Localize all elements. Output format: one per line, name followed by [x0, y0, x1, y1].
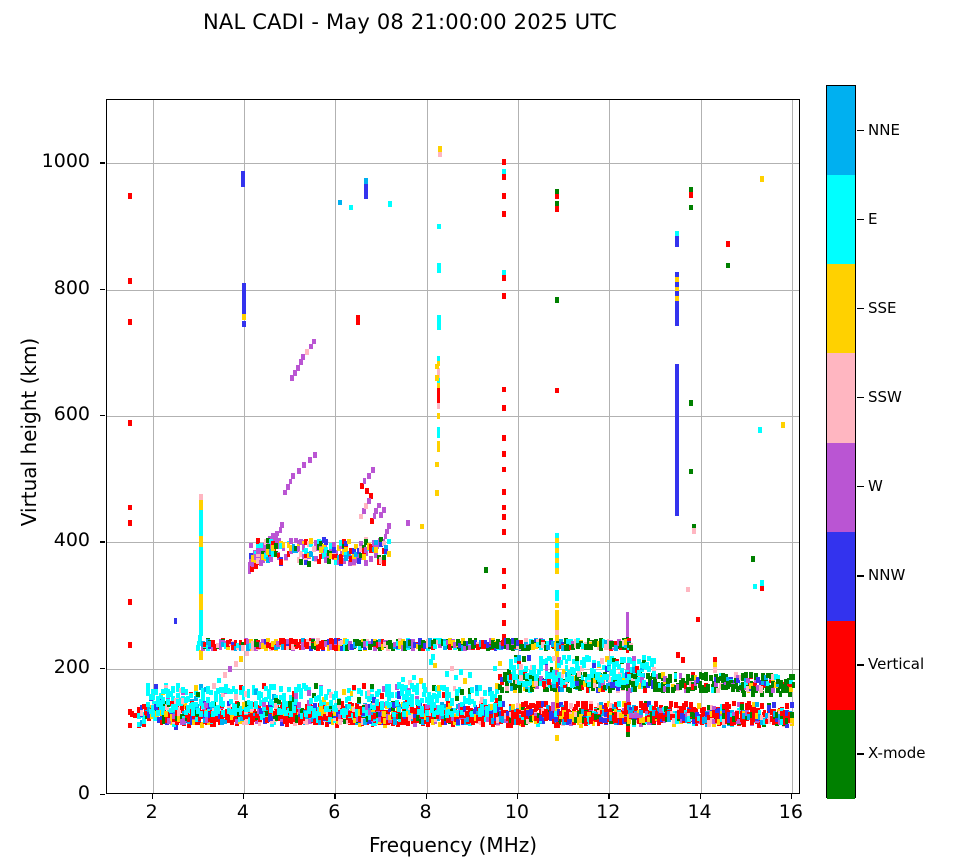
echo-point — [569, 703, 573, 709]
echo-point — [367, 473, 371, 479]
echo-point — [259, 543, 263, 549]
echo-point — [161, 697, 165, 703]
x-tick — [608, 794, 609, 799]
echo-point — [760, 176, 764, 182]
y-tick-label: 200 — [0, 656, 90, 678]
echo-point — [629, 645, 633, 651]
echo-point — [502, 620, 506, 626]
echo-point — [360, 690, 364, 696]
echo-point — [735, 711, 739, 717]
y-tick-label: 800 — [0, 277, 90, 299]
echo-point — [502, 193, 506, 199]
echo-point — [348, 718, 352, 724]
echo-point — [534, 675, 538, 681]
echo-point — [502, 451, 506, 457]
echo-point — [435, 375, 439, 381]
echo-point — [437, 224, 441, 230]
colorbar-label-nnw: NNW — [868, 566, 905, 584]
echo-point — [355, 711, 359, 717]
echo-point — [564, 701, 568, 707]
echo-point — [365, 710, 369, 716]
echo-point — [199, 552, 203, 558]
echo-point — [633, 687, 637, 693]
echo-point — [199, 504, 203, 510]
echo-point — [395, 700, 399, 706]
echo-point — [781, 422, 785, 428]
echo-point — [382, 507, 386, 513]
echo-point — [309, 344, 313, 350]
echo-point — [402, 711, 406, 717]
echo-point — [199, 499, 203, 505]
colorbar-label-x-mode: X-mode — [868, 744, 925, 762]
echo-point — [684, 701, 688, 707]
echo-point — [228, 666, 232, 672]
colorbar-tick — [857, 397, 864, 398]
echo-point — [502, 514, 506, 520]
echo-point — [274, 543, 278, 549]
echo-point — [753, 584, 757, 590]
echo-point — [666, 687, 670, 693]
echo-point — [437, 268, 441, 274]
echo-point — [390, 692, 394, 698]
echo-point — [199, 615, 203, 621]
echo-point — [199, 620, 203, 626]
echo-point — [674, 673, 678, 679]
echo-point — [450, 700, 454, 706]
x-axis-title: Frequency (MHz) — [106, 833, 800, 857]
echo-point — [760, 580, 764, 586]
y-tick-label: 400 — [0, 529, 90, 551]
echo-point — [199, 610, 203, 616]
echo-point — [502, 211, 506, 217]
echo-point — [502, 435, 506, 441]
echo-point — [760, 586, 764, 592]
echo-point — [627, 674, 631, 680]
echo-point — [377, 503, 381, 509]
colorbar-label-nne: NNE — [868, 121, 900, 139]
echo-point — [299, 693, 303, 699]
echo-point — [308, 457, 312, 463]
x-tick-label: 14 — [670, 801, 730, 823]
echo-point — [199, 579, 203, 585]
echo-point — [305, 349, 309, 355]
echo-point — [792, 682, 796, 688]
colorbar-tick — [857, 753, 864, 754]
echo-point — [307, 690, 311, 696]
echo-point — [199, 599, 203, 605]
echo-point — [256, 548, 260, 554]
echo-point — [356, 320, 360, 326]
echo-point — [545, 665, 549, 671]
echo-point — [519, 664, 523, 670]
echo-point — [279, 686, 283, 692]
echo-point — [614, 645, 618, 651]
echo-point — [555, 735, 559, 741]
echo-point — [373, 513, 377, 519]
echo-point — [502, 174, 506, 180]
echo-point — [370, 684, 374, 690]
echo-point — [388, 201, 392, 207]
echo-point — [362, 683, 366, 689]
y-axis-title: Virtual height (km) — [17, 232, 41, 632]
echo-point — [363, 478, 367, 484]
echo-point — [368, 644, 372, 650]
echo-point — [327, 558, 331, 564]
echo-point — [652, 671, 656, 677]
echo-point — [420, 712, 424, 718]
echo-point — [470, 687, 474, 693]
echo-point — [370, 518, 374, 524]
echo-point — [501, 701, 505, 707]
echo-point — [425, 710, 429, 716]
echo-point — [357, 697, 361, 703]
echo-point — [480, 709, 484, 715]
echo-point — [415, 689, 419, 695]
echo-point — [174, 618, 178, 624]
echo-point — [307, 561, 311, 567]
echo-point — [437, 413, 441, 419]
echo-point — [239, 656, 243, 662]
echo-point — [387, 551, 391, 557]
echo-point — [785, 703, 789, 709]
echo-point — [493, 666, 497, 672]
echo-point — [576, 701, 580, 707]
echo-point — [242, 304, 246, 310]
echo-point — [249, 543, 253, 549]
echo-point — [242, 298, 246, 304]
echo-point — [199, 557, 203, 563]
echo-point — [502, 275, 506, 281]
echo-point — [577, 671, 581, 677]
echo-point — [371, 467, 375, 473]
echo-point — [287, 687, 291, 693]
colorbar-tick — [857, 219, 864, 220]
echo-point — [726, 263, 730, 269]
echo-point — [412, 675, 416, 681]
echo-point — [199, 711, 203, 717]
echo-point — [291, 473, 295, 479]
echo-point — [234, 661, 238, 667]
echo-point — [547, 679, 551, 685]
echo-point — [164, 711, 168, 717]
echo-point — [242, 314, 246, 320]
y-tick — [100, 415, 105, 416]
echo-point — [241, 176, 245, 182]
echo-point — [189, 693, 193, 699]
echo-point — [555, 603, 559, 609]
colorbar-segment-x-mode — [827, 710, 855, 799]
colorbar-segment-w — [827, 443, 855, 532]
echo-point — [749, 672, 753, 678]
echo-point — [374, 508, 378, 514]
echo-point — [352, 685, 356, 691]
echo-point — [484, 567, 488, 573]
echo-point — [790, 702, 794, 708]
echo-point — [199, 546, 203, 552]
figure-title: NAL CADI - May 08 21:00:00 2025 UTC — [0, 10, 820, 34]
echo-point — [681, 657, 685, 663]
echo-point — [582, 662, 586, 668]
echo-point — [128, 193, 132, 199]
echo-point — [760, 703, 764, 709]
echo-point — [675, 510, 679, 516]
echo-point — [502, 467, 506, 473]
echo-point — [382, 560, 386, 566]
x-tick-label: 2 — [122, 801, 182, 823]
x-tick-label: 4 — [213, 801, 273, 823]
echo-point — [498, 661, 502, 667]
echo-point — [369, 556, 373, 562]
echo-point — [337, 699, 341, 705]
echo-point — [534, 680, 538, 686]
echo-point — [626, 732, 630, 738]
echo-point — [732, 701, 736, 707]
colorbar-label-e: E — [868, 210, 877, 228]
echo-point — [375, 699, 379, 705]
echo-point — [675, 321, 679, 327]
y-tick — [100, 541, 105, 542]
echo-point — [435, 462, 439, 468]
echo-point — [401, 677, 405, 683]
echo-point — [319, 686, 323, 692]
echo-point — [364, 178, 368, 184]
echo-point — [689, 400, 693, 406]
echo-point — [475, 691, 479, 697]
echo-point — [642, 680, 646, 686]
echo-point — [453, 708, 457, 714]
echo-point — [790, 718, 794, 724]
echo-point — [334, 691, 338, 697]
colorbar-label-w: W — [868, 477, 883, 495]
echo-point — [589, 704, 593, 710]
echo-point — [166, 699, 170, 705]
echo-point — [332, 547, 336, 553]
echo-point — [324, 539, 328, 545]
echo-point — [292, 708, 296, 714]
echo-point — [217, 678, 221, 684]
echo-point — [696, 617, 700, 623]
echo-point — [669, 701, 673, 707]
y-tick — [100, 794, 105, 795]
y-tick-label: 1000 — [0, 150, 90, 172]
echo-point — [784, 686, 788, 692]
echo-point — [379, 512, 383, 518]
echo-point — [555, 297, 559, 303]
echo-point — [302, 462, 306, 468]
echo-point — [357, 558, 361, 564]
echo-point — [374, 540, 378, 546]
echo-point — [610, 682, 614, 688]
echo-point — [345, 709, 349, 715]
echo-point — [214, 697, 218, 703]
echo-point — [194, 702, 198, 708]
echo-point — [468, 672, 472, 678]
echo-point — [342, 689, 346, 695]
echo-point — [385, 529, 389, 535]
echo-point — [241, 171, 245, 177]
echo-point — [437, 325, 441, 331]
echo-point — [245, 651, 249, 657]
echo-point — [587, 682, 591, 688]
x-tick-label: 6 — [304, 801, 364, 823]
echo-point — [199, 531, 203, 537]
colorbar-label-vertical: Vertical — [868, 655, 924, 673]
echo-point — [420, 524, 424, 530]
echo-point — [241, 645, 245, 651]
echo-point — [422, 683, 426, 689]
echo-point — [181, 687, 185, 693]
echo-point — [502, 584, 506, 590]
echo-point — [201, 695, 205, 701]
echo-point — [438, 151, 442, 157]
echo-point — [454, 675, 458, 681]
x-tick-label: 16 — [761, 801, 821, 823]
echo-point — [286, 484, 290, 490]
echo-point — [128, 278, 132, 284]
echo-point — [500, 687, 504, 693]
echo-point — [199, 605, 203, 611]
echo-point — [380, 693, 384, 699]
echo-point — [128, 520, 132, 526]
colorbar-label-sse: SSE — [868, 299, 897, 317]
echo-point — [199, 630, 203, 636]
echo-point — [438, 146, 442, 152]
echo-point — [352, 559, 356, 565]
echo-point — [518, 687, 522, 693]
y-tick — [100, 162, 105, 163]
x-tick — [426, 794, 427, 799]
echo-point — [154, 684, 158, 690]
echo-point — [502, 529, 506, 535]
echo-point — [498, 701, 502, 707]
echo-point — [527, 655, 531, 661]
echo-point — [362, 508, 366, 514]
echo-point — [483, 699, 487, 705]
echo-point — [437, 692, 441, 698]
echo-point — [465, 711, 469, 717]
echo-point — [269, 556, 273, 562]
colorbar-tick — [857, 308, 864, 309]
echo-point — [262, 702, 266, 708]
echo-point — [542, 681, 546, 687]
echo-point — [435, 490, 439, 496]
colorbar-tick — [857, 486, 864, 487]
echo-point — [689, 205, 693, 211]
echo-point — [727, 704, 731, 710]
echo-point — [652, 658, 656, 664]
x-tick — [152, 794, 153, 799]
echo-point — [199, 654, 203, 660]
echo-point — [223, 672, 227, 678]
colorbar-segment-e — [827, 175, 855, 264]
x-tick-label: 12 — [578, 801, 638, 823]
echo-point — [297, 468, 301, 474]
echo-point — [555, 595, 559, 601]
echo-point — [483, 691, 487, 697]
echo-point — [140, 710, 144, 716]
echo-point — [293, 370, 297, 376]
echo-point — [473, 701, 477, 707]
echo-point — [242, 283, 246, 289]
colorbar-label-ssw: SSW — [868, 388, 902, 406]
echo-point — [709, 675, 713, 681]
echo-point — [204, 711, 208, 717]
echo-point — [437, 403, 441, 409]
echo-point — [309, 538, 313, 544]
echo-point — [433, 663, 437, 669]
echo-point — [410, 707, 414, 713]
echo-point — [731, 684, 735, 690]
echo-point — [668, 677, 672, 683]
echo-point — [437, 446, 441, 452]
echo-point — [364, 560, 368, 566]
echo-point — [199, 520, 203, 526]
echo-point — [199, 536, 203, 542]
echo-point — [362, 554, 366, 560]
echo-point — [522, 656, 526, 662]
echo-point — [347, 704, 351, 710]
echo-point — [560, 660, 564, 666]
echo-point — [349, 205, 353, 211]
echo-point — [568, 687, 572, 693]
echo-point — [232, 703, 236, 709]
echo-point — [299, 559, 303, 565]
echo-point — [199, 494, 203, 500]
echo-point — [221, 701, 225, 707]
echo-point — [199, 568, 203, 574]
echo-point — [689, 192, 693, 198]
echo-point — [524, 666, 528, 672]
echo-point — [209, 690, 213, 696]
echo-point — [517, 655, 521, 661]
echo-point — [502, 293, 506, 299]
echo-point — [478, 685, 482, 691]
x-tick — [243, 794, 244, 799]
echo-point — [713, 667, 717, 673]
colorbar-tick — [857, 575, 864, 576]
echo-point — [600, 658, 604, 664]
echo-point — [242, 309, 246, 315]
echo-point — [387, 539, 391, 545]
echo-point — [374, 547, 378, 553]
echo-point — [301, 354, 305, 360]
echo-point — [249, 701, 253, 707]
echo-point — [151, 695, 155, 701]
echo-point — [347, 539, 351, 545]
echo-point — [532, 665, 536, 671]
echo-point — [234, 689, 238, 695]
echo-point — [242, 288, 246, 294]
echo-point — [312, 546, 316, 552]
echo-point — [455, 696, 459, 702]
echo-point — [445, 671, 449, 677]
echo-point — [199, 526, 203, 532]
echo-point — [586, 687, 590, 693]
x-tick — [334, 794, 335, 799]
echo-point — [552, 656, 556, 662]
echo-point — [456, 719, 460, 725]
echo-point — [269, 707, 273, 713]
echo-point — [622, 657, 626, 663]
echo-point — [312, 339, 316, 345]
y-tick — [100, 289, 105, 290]
echo-point — [241, 181, 245, 187]
echo-point — [406, 520, 410, 526]
echo-point — [199, 625, 203, 631]
echo-point — [502, 505, 506, 511]
echo-point — [171, 688, 175, 694]
x-tick-label: 8 — [396, 801, 456, 823]
